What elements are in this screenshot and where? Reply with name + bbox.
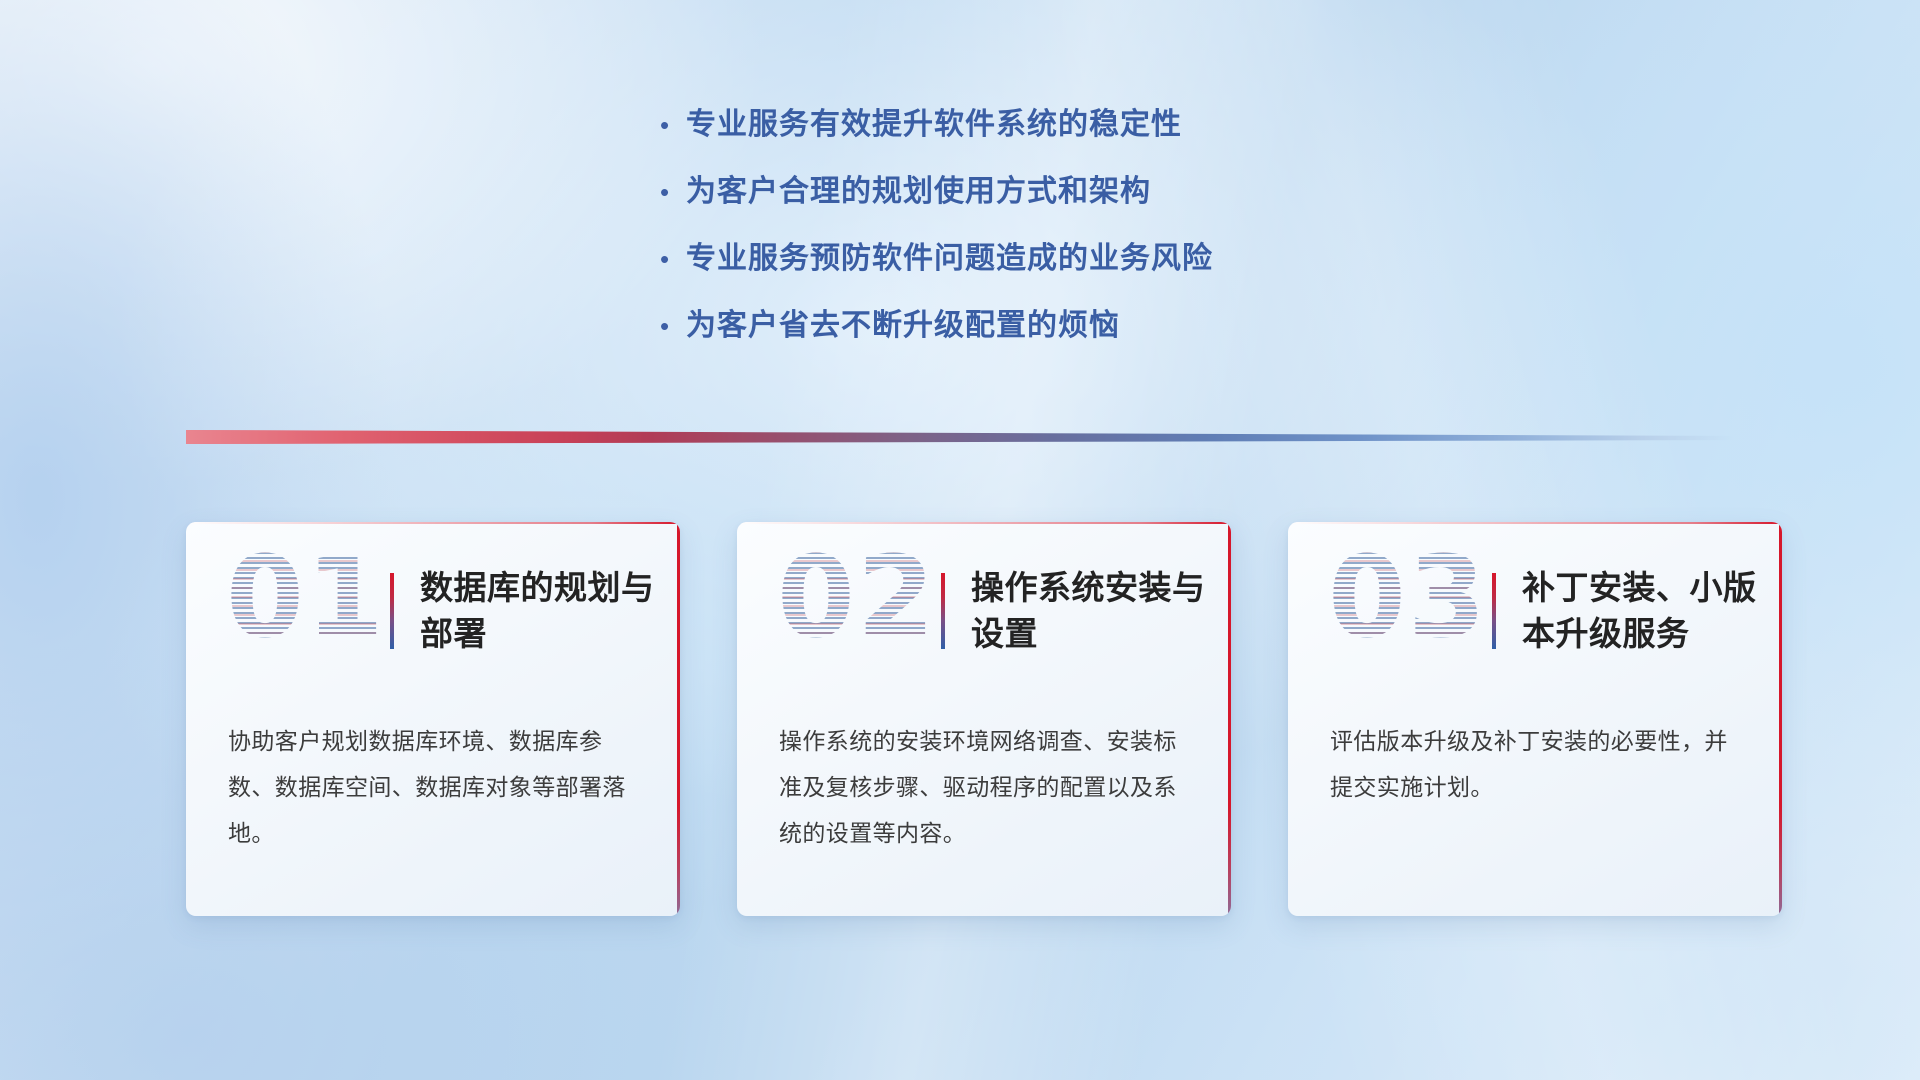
card-title: 补丁安装、小版本升级服务	[1522, 565, 1782, 657]
card-number-tint-overlay: 02	[777, 542, 937, 654]
card-description: 操作系统的安装环境网络调查、安装标准及复核步骤、驱动程序的配置以及系统的设置等内…	[779, 718, 1191, 856]
section-divider	[186, 430, 1734, 444]
card-header: 03 03 补丁安装、小版本升级服务	[1288, 522, 1782, 654]
benefits-bullet-list: • 专业服务有效提升软件系统的稳定性 • 为客户合理的规划使用方式和架构 • 专…	[660, 105, 1420, 373]
service-card-row: 01 01 数据库的规划与部署 协助客户规划数据库环境、数据库参数、数据库空间、…	[186, 522, 1782, 916]
service-card[interactable]: 03 03 补丁安装、小版本升级服务 评估版本升级及补丁安装的必要性，并提交实施…	[1288, 522, 1782, 916]
bullet-item-label: 专业服务预防软件问题造成的业务风险	[686, 239, 1213, 279]
bullet-item: • 专业服务有效提升软件系统的稳定性	[660, 105, 1420, 145]
bullet-dot-icon: •	[660, 239, 686, 279]
card-description: 协助客户规划数据库环境、数据库参数、数据库空间、数据库对象等部署落地。	[228, 718, 640, 856]
card-accent-bar	[1492, 573, 1496, 649]
bullet-dot-icon: •	[660, 105, 686, 145]
bullet-item: • 为客户省去不断升级配置的烦恼	[660, 306, 1420, 346]
card-accent-bar	[390, 573, 394, 649]
bullet-item-label: 为客户合理的规划使用方式和架构	[686, 172, 1151, 212]
bullet-item: • 专业服务预防软件问题造成的业务风险	[660, 239, 1420, 279]
divider-highlight	[186, 430, 1734, 444]
card-number-tint-overlay: 03	[1328, 542, 1488, 654]
service-card[interactable]: 01 01 数据库的规划与部署 协助客户规划数据库环境、数据库参数、数据库空间、…	[186, 522, 680, 916]
card-header: 01 01 数据库的规划与部署	[186, 522, 680, 654]
card-accent-bar	[941, 573, 945, 649]
card-description: 评估版本升级及补丁安装的必要性，并提交实施计划。	[1330, 718, 1742, 810]
service-card[interactable]: 02 02 操作系统安装与设置 操作系统的安装环境网络调查、安装标准及复核步骤、…	[737, 522, 1231, 916]
bullet-item-label: 为客户省去不断升级配置的烦恼	[686, 306, 1120, 346]
card-title: 操作系统安装与设置	[971, 565, 1231, 657]
card-number-watermark: 02 02	[777, 556, 929, 666]
card-number-tint-overlay: 01	[226, 542, 386, 654]
card-number-watermark: 03 03	[1328, 556, 1480, 666]
bullet-item-label: 专业服务有效提升软件系统的稳定性	[686, 105, 1182, 145]
bullet-item: • 为客户合理的规划使用方式和架构	[660, 172, 1420, 212]
card-number-watermark: 01 01	[226, 556, 378, 666]
card-title: 数据库的规划与部署	[420, 565, 680, 657]
bullet-dot-icon: •	[660, 172, 686, 212]
bullet-dot-icon: •	[660, 306, 686, 346]
card-header: 02 02 操作系统安装与设置	[737, 522, 1231, 654]
